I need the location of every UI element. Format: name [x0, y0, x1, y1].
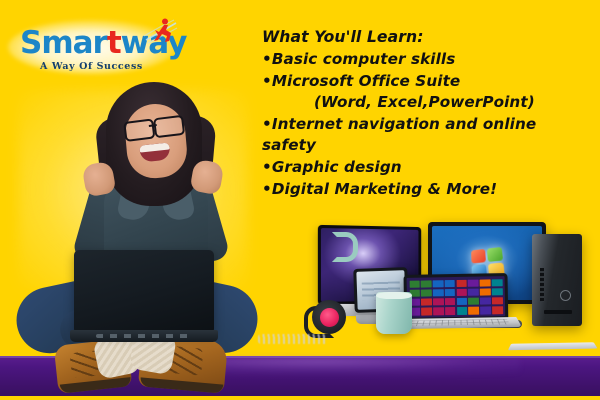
learn-item-3: •Internet navigation and online safety — [262, 114, 592, 157]
mug-handle — [332, 232, 358, 262]
start-tile — [409, 280, 420, 288]
start-tile — [492, 306, 503, 314]
start-tile — [444, 280, 455, 288]
floor-keyboard — [508, 342, 598, 350]
start-tile — [469, 306, 480, 314]
held-laptop — [74, 250, 214, 334]
bottom-yellow-band — [0, 396, 600, 400]
learn-item-5: •Digital Marketing & More! — [262, 179, 592, 201]
learn-item-1-label: Basic computer skills — [272, 50, 456, 68]
start-tile — [492, 279, 503, 287]
start-tile — [456, 279, 467, 287]
headphones — [304, 296, 352, 334]
laptop-screen — [404, 273, 509, 321]
windows-8-start-tiles — [407, 276, 506, 318]
start-tile — [480, 288, 491, 296]
lens-right — [153, 115, 185, 139]
laptop-keys — [403, 319, 510, 326]
learn-item-2-sub: (Word, Excel,PowerPoint) — [262, 92, 592, 114]
windows-pane-red — [471, 249, 486, 264]
learn-item-4-label: Graphic design — [272, 158, 402, 176]
start-tile — [480, 297, 491, 305]
student-photo — [0, 60, 270, 365]
learn-item-5-label: Digital Marketing & More! — [272, 180, 497, 198]
start-tile — [480, 279, 491, 287]
held-laptop-ports — [96, 334, 192, 338]
windows-8-laptop — [396, 273, 517, 333]
start-tile — [445, 289, 456, 297]
start-tile — [421, 289, 432, 297]
headphone-pad — [320, 308, 339, 327]
start-tile — [445, 307, 456, 315]
start-tile — [433, 307, 444, 315]
learn-item-4: •Graphic design — [262, 157, 592, 179]
start-tile — [492, 297, 503, 305]
lens-left — [123, 118, 155, 142]
start-tile — [468, 279, 479, 287]
power-button-icon[interactable] — [560, 290, 571, 301]
tower-vent — [540, 268, 544, 302]
learn-item-1: •Basic computer skills — [262, 49, 592, 71]
desk-cables — [258, 334, 328, 344]
tower-drive-slot — [544, 310, 572, 314]
learn-title: What You'll Learn: — [262, 26, 592, 48]
start-tile — [421, 280, 432, 288]
brand-name-part-2: t — [107, 25, 121, 61]
start-tile — [480, 306, 491, 314]
start-tile — [456, 288, 467, 296]
start-tile — [421, 307, 432, 315]
tower-pc — [532, 234, 582, 326]
start-tile — [468, 297, 479, 305]
learn-item-3-label: Internet navigation and online safety — [262, 115, 536, 155]
running-man-icon — [134, 16, 180, 46]
device-group — [300, 222, 600, 367]
brand-name-part-1: Smar — [20, 25, 107, 61]
start-tile — [457, 307, 468, 315]
start-tile — [433, 280, 444, 288]
start-tile — [468, 288, 479, 296]
start-tile — [445, 298, 456, 306]
learn-item-2-label: Microsoft Office Suite — [272, 72, 461, 90]
windows-pane-green — [487, 247, 503, 262]
start-tile — [433, 289, 444, 297]
learn-item-2: •Microsoft Office Suite — [262, 71, 592, 93]
learn-list: What You'll Learn: •Basic computer skill… — [262, 26, 592, 200]
course-poster: Smartway A Way Of Success What You'll Le… — [0, 0, 600, 400]
start-tile — [457, 297, 468, 305]
start-tile — [492, 288, 503, 296]
start-tile — [433, 298, 444, 306]
mug-rim — [376, 292, 412, 299]
start-tile — [421, 298, 432, 306]
coffee-mug — [376, 292, 412, 334]
